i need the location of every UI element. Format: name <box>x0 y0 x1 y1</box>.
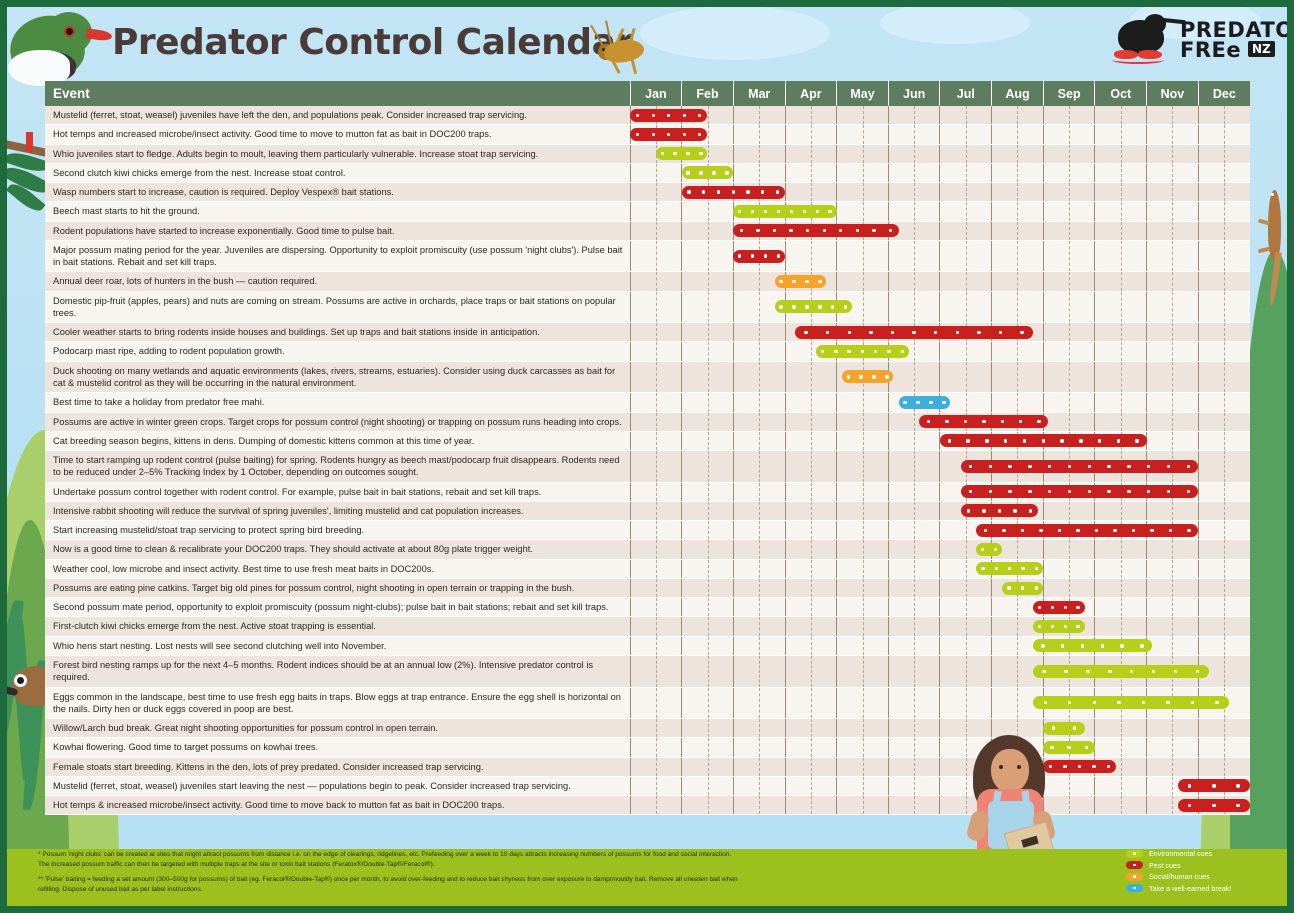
table-row: Hot temps & increased microbe/insect act… <box>45 796 1250 815</box>
month-cell-nov <box>1147 598 1199 617</box>
month-cell-may <box>837 393 889 412</box>
gantt-bar[interactable] <box>1033 601 1085 614</box>
month-cell-apr <box>785 540 837 559</box>
table-row: Annual deer roar, lots of hunters in the… <box>45 272 1250 291</box>
month-cell-dec <box>1198 144 1250 163</box>
month-cell-mar <box>733 521 785 540</box>
month-cell-jul <box>940 163 992 182</box>
month-cell-jun <box>888 361 940 393</box>
month-cell-sep <box>1043 125 1095 144</box>
month-cell-feb <box>682 412 734 431</box>
month-cell-apr <box>785 361 837 393</box>
column-header-sep: Sep <box>1043 81 1095 106</box>
month-cell-feb <box>682 559 734 578</box>
month-cell-aug <box>992 163 1044 182</box>
bar-dot-icon <box>948 439 951 442</box>
bar-dot-icon <box>636 133 639 136</box>
bar-dot-icon <box>805 305 808 308</box>
event-description: Podocarp mast ripe, adding to rodent pop… <box>45 342 630 361</box>
bar-dot-icon <box>1029 509 1032 512</box>
legend-item: Social/human cues <box>1126 872 1286 881</box>
bar-dot-icon <box>1140 644 1143 647</box>
month-cell-jan <box>630 521 682 540</box>
bar-dot-icon <box>717 190 720 193</box>
month-cell-apr <box>785 738 837 757</box>
bar-dot-icon <box>1007 586 1010 589</box>
month-cell-sep <box>1043 342 1095 361</box>
month-cell-may <box>837 183 889 202</box>
month-cell-jun <box>888 272 940 291</box>
month-cell-oct <box>1095 361 1147 393</box>
month-cell-aug <box>992 361 1044 393</box>
month-cell-jun <box>888 106 940 125</box>
bar-dot-icon <box>1068 490 1071 493</box>
footnote-1: * Possum 'night clubs' can be created at… <box>38 850 738 870</box>
month-cell-dec <box>1198 540 1250 559</box>
month-cell-dec <box>1198 221 1250 240</box>
month-cell-feb <box>682 578 734 597</box>
month-cell-jun <box>888 482 940 501</box>
month-cell-oct <box>1095 412 1147 431</box>
table-row: Mustelid (ferret, stoat, weasel) juvenil… <box>45 776 1250 795</box>
month-cell-may <box>837 598 889 617</box>
bar-dot-icon <box>1058 529 1061 532</box>
month-cell-dec <box>1198 559 1250 578</box>
bar-dot-icon <box>1117 701 1120 704</box>
month-cell-may <box>837 501 889 520</box>
gantt-bar[interactable] <box>1033 665 1209 678</box>
bar-dot-icon <box>874 350 877 353</box>
gantt-bar[interactable] <box>775 275 827 288</box>
bar-dot-icon <box>1044 701 1047 704</box>
event-description: Second possum mate period, opportunity t… <box>45 598 630 617</box>
month-cell-mar <box>733 655 785 687</box>
month-cell-jan <box>630 482 682 501</box>
month-cell-may <box>837 272 889 291</box>
month-cell-jun <box>888 501 940 520</box>
bar-dot-icon <box>1212 804 1215 807</box>
month-cell-jul <box>940 291 992 323</box>
column-header-may: May <box>837 81 889 106</box>
bar-dot-icon <box>1035 567 1038 570</box>
month-cell-mar <box>733 719 785 738</box>
event-description: Start increasing mustelid/stoat trap ser… <box>45 521 630 540</box>
gantt-bar[interactable] <box>1178 799 1250 812</box>
event-description: Mustelid (ferret, stoat, weasel) juvenil… <box>45 776 630 795</box>
bar-dot-icon <box>805 280 808 283</box>
gantt-bar[interactable] <box>961 504 1038 517</box>
bar-dot-icon <box>777 254 780 257</box>
month-cell-feb <box>682 636 734 655</box>
bar-dot-icon <box>1068 701 1071 704</box>
month-cell-mar <box>733 451 785 483</box>
month-cell-apr <box>785 776 837 795</box>
month-cell-apr <box>785 431 837 450</box>
month-cell-may <box>837 482 889 501</box>
month-cell-jan <box>630 796 682 815</box>
month-cell-aug <box>992 221 1044 240</box>
month-cell-jun <box>888 655 940 687</box>
month-cell-apr <box>785 521 837 540</box>
month-cell-aug <box>992 106 1044 125</box>
table-row: Rodent populations have started to incre… <box>45 221 1250 240</box>
month-cell-dec <box>1198 617 1250 636</box>
bar-dot-icon <box>885 375 888 378</box>
bar-dot-icon <box>826 331 829 334</box>
bar-dot-icon <box>1117 439 1120 442</box>
bar-dot-icon <box>1008 490 1011 493</box>
weta-icon <box>588 22 652 74</box>
month-cell-may <box>837 738 889 757</box>
gantt-bar[interactable] <box>976 524 1198 537</box>
bar-dot-icon <box>859 375 862 378</box>
event-description: Possums are active in winter green crops… <box>45 412 630 431</box>
gantt-bar[interactable] <box>961 460 1199 473</box>
event-description: Best time to take a holiday from predato… <box>45 393 630 412</box>
bar-dot-icon <box>1152 670 1155 673</box>
month-cell-may <box>837 412 889 431</box>
gantt-bar[interactable] <box>1033 696 1229 709</box>
bar-dot-icon <box>1188 784 1191 787</box>
month-cell-jan <box>630 240 682 272</box>
month-cell-may <box>837 719 889 738</box>
bar-dot-icon <box>1086 670 1089 673</box>
month-cell-oct <box>1095 291 1147 323</box>
event-description: Duck shooting on many wetlands and aquat… <box>45 361 630 393</box>
month-cell-sep <box>1043 144 1095 163</box>
gantt-bar[interactable] <box>1178 779 1250 792</box>
legend-label: Pest cues <box>1149 861 1181 870</box>
table-row: Possums are active in winter green crops… <box>45 412 1250 431</box>
month-cell-sep <box>1043 361 1095 393</box>
gantt-bar[interactable] <box>919 415 1048 428</box>
gantt-bar[interactable] <box>842 370 894 383</box>
bar-dot-icon <box>652 133 655 136</box>
bar-dot-icon <box>982 509 985 512</box>
month-cell-oct <box>1095 719 1147 738</box>
month-cell-jan <box>630 598 682 617</box>
month-cell-may <box>837 578 889 597</box>
event-description: Beech mast starts to hit the ground. <box>45 202 630 221</box>
gantt-bar[interactable] <box>682 186 785 199</box>
month-cell-jan <box>630 719 682 738</box>
column-header-apr: Apr <box>785 81 837 106</box>
table-row: Duck shooting on many wetlands and aquat… <box>45 361 1250 393</box>
gantt-bar[interactable] <box>976 562 1043 575</box>
month-cell-oct <box>1095 738 1147 757</box>
month-cell-mar <box>733 323 785 342</box>
bar-dot-icon <box>929 401 933 405</box>
month-cell-feb <box>682 361 734 393</box>
table-row: Intensive rabbit shooting will reduce th… <box>45 501 1250 520</box>
bar-dot-icon <box>1127 465 1130 468</box>
month-cell-mar <box>733 144 785 163</box>
month-cell-feb <box>682 323 734 342</box>
bar-dot-icon <box>1085 746 1088 749</box>
month-cell-feb <box>682 598 734 617</box>
event-description: Domestic pip-fruit (apples, pears) and n… <box>45 291 630 323</box>
table-header-row: Event Jan Feb Mar Apr May Jun Jul Aug Se… <box>45 81 1250 106</box>
month-cell-mar <box>733 598 785 617</box>
bar-dot-icon <box>848 331 851 334</box>
month-cell-may <box>837 559 889 578</box>
event-description: Kowhai flowering. Good time to target po… <box>45 738 630 757</box>
month-cell-jan <box>630 655 682 687</box>
bar-dot-icon <box>792 305 795 308</box>
bar-dot-icon <box>1107 765 1110 768</box>
gantt-bar[interactable] <box>733 205 836 218</box>
month-cell-may <box>837 687 889 719</box>
month-cell-apr <box>785 598 837 617</box>
month-cell-jun <box>888 559 940 578</box>
month-cell-feb <box>682 291 734 323</box>
month-cell-oct <box>1095 559 1147 578</box>
month-cell-apr <box>785 501 837 520</box>
month-cell-nov <box>1147 738 1199 757</box>
bar-dot-icon <box>1101 644 1104 647</box>
table-row: Best time to take a holiday from predato… <box>45 393 1250 412</box>
legend-swatch-icon <box>1126 861 1143 869</box>
month-cell-dec <box>1198 578 1250 597</box>
month-cell-nov <box>1147 342 1199 361</box>
month-cell-may <box>837 757 889 776</box>
gantt-bar[interactable] <box>775 300 852 313</box>
table-row: Second clutch kiwi chicks emerge from th… <box>45 163 1250 182</box>
bar-dot-icon <box>806 229 809 232</box>
column-header-aug: Aug <box>992 81 1044 106</box>
month-cell-may <box>837 655 889 687</box>
month-cell-jun <box>888 183 940 202</box>
event-description: Whio hens start nesting. Lost nests will… <box>45 636 630 655</box>
bar-dot-icon <box>844 305 847 308</box>
bar-dot-icon <box>661 152 664 155</box>
gantt-bar[interactable] <box>816 345 909 358</box>
legend: Environmental cuesPest cuesSocial/human … <box>1126 849 1286 895</box>
month-cell-jan <box>630 361 682 393</box>
bar-dot-icon <box>1212 784 1215 787</box>
legend-item: Take a well-earned break! <box>1126 884 1286 893</box>
month-cell-jul <box>940 272 992 291</box>
month-cell-jun <box>888 738 940 757</box>
bar-dot-icon <box>1038 606 1041 609</box>
bar-dot-icon <box>1196 670 1199 673</box>
bar-dot-icon <box>1052 726 1055 729</box>
bar-dot-icon <box>1187 465 1190 468</box>
gantt-bar[interactable] <box>976 543 1002 556</box>
bar-dot-icon <box>673 152 676 155</box>
bar-dot-icon <box>1041 644 1044 647</box>
month-cell-jul <box>940 578 992 597</box>
event-description: Weather cool, low microbe and insect act… <box>45 559 630 578</box>
table-row: Beech mast starts to hit the ground. <box>45 202 1250 221</box>
month-cell-jul <box>940 183 992 202</box>
bar-dot-icon <box>777 210 780 213</box>
bar-dot-icon <box>804 331 807 334</box>
gantt-bar[interactable] <box>1033 620 1085 633</box>
bar-dot-icon <box>1135 439 1138 442</box>
bar-dot-icon <box>789 229 792 232</box>
month-cell-jul <box>940 202 992 221</box>
bar-dot-icon <box>773 229 776 232</box>
bar-dot-icon <box>1042 670 1045 673</box>
bar-dot-icon <box>901 350 904 353</box>
bar-dot-icon <box>966 439 969 442</box>
bar-dot-icon <box>1004 439 1007 442</box>
bar-dot-icon <box>872 229 875 232</box>
month-cell-sep <box>1043 272 1095 291</box>
event-description: Intensive rabbit shooting will reduce th… <box>45 501 630 520</box>
month-cell-jul <box>940 598 992 617</box>
gantt-bar[interactable] <box>795 326 1033 339</box>
bar-dot-icon <box>1023 439 1026 442</box>
gantt-bar[interactable] <box>899 396 951 409</box>
month-cell-may <box>837 144 889 163</box>
month-cell-nov <box>1147 719 1199 738</box>
month-cell-jan <box>630 163 682 182</box>
table-row: Possums are eating pine catkins. Target … <box>45 578 1250 597</box>
month-cell-apr <box>785 482 837 501</box>
event-description: Willow/Larch bud break. Great night shoo… <box>45 719 630 738</box>
bar-dot-icon <box>1093 701 1096 704</box>
month-cell-feb <box>682 738 734 757</box>
month-cell-sep <box>1043 412 1095 431</box>
month-cell-jan <box>630 776 682 795</box>
month-cell-feb <box>682 221 734 240</box>
bar-dot-icon <box>977 331 980 334</box>
month-cell-nov <box>1147 617 1199 636</box>
event-description: Hot temps and increased microbe/insect a… <box>45 125 630 144</box>
month-cell-jul <box>940 617 992 636</box>
gantt-bar[interactable] <box>940 434 1147 447</box>
month-cell-jan <box>630 412 682 431</box>
month-cell-feb <box>682 796 734 815</box>
gantt-bar[interactable] <box>1033 639 1152 652</box>
bar-dot-icon <box>1187 529 1190 532</box>
gantt-bar[interactable] <box>630 109 707 122</box>
column-header-event: Event <box>45 81 630 106</box>
month-cell-jan <box>630 617 682 636</box>
bar-dot-icon <box>1092 765 1095 768</box>
month-cell-apr <box>785 757 837 776</box>
month-cell-aug <box>992 183 1044 202</box>
person-illustration <box>955 735 1065 847</box>
month-cell-sep <box>1043 540 1095 559</box>
bar-dot-icon <box>934 331 937 334</box>
month-cell-jan <box>630 501 682 520</box>
month-cell-dec <box>1198 291 1250 323</box>
month-cell-mar <box>733 738 785 757</box>
month-cell-dec <box>1198 202 1250 221</box>
bar-dot-icon <box>725 171 728 174</box>
month-cell-dec <box>1198 521 1250 540</box>
month-cell-mar <box>733 617 785 636</box>
bar-dot-icon <box>821 350 824 353</box>
gantt-bar[interactable] <box>656 147 708 160</box>
gantt-bar[interactable] <box>961 485 1199 498</box>
month-cell-nov <box>1147 431 1199 450</box>
footnotes-block: * Possum 'night clubs' can be created at… <box>38 850 738 900</box>
month-cell-oct <box>1095 106 1147 125</box>
bar-dot-icon <box>994 548 997 551</box>
gantt-bar[interactable] <box>733 224 898 237</box>
bar-dot-icon <box>1120 644 1123 647</box>
gantt-bar[interactable] <box>1002 582 1043 595</box>
page-title: Predator Control Calendar <box>112 22 633 63</box>
column-header-nov: Nov <box>1147 81 1199 106</box>
month-cell-aug <box>992 393 1044 412</box>
bar-dot-icon <box>1127 490 1130 493</box>
month-cell-nov <box>1147 221 1199 240</box>
event-description: Rodent populations have started to incre… <box>45 221 630 240</box>
bar-dot-icon <box>1060 439 1063 442</box>
bar-dot-icon <box>779 280 782 283</box>
month-cell-feb <box>682 617 734 636</box>
bar-dot-icon <box>1187 490 1190 493</box>
month-cell-dec <box>1198 272 1250 291</box>
month-cell-nov <box>1147 291 1199 323</box>
legend-item: Environmental cues <box>1126 849 1286 858</box>
month-cell-jul <box>940 240 992 272</box>
gantt-bar[interactable] <box>733 250 785 263</box>
event-description: Eggs common in the landscape, best time … <box>45 687 630 719</box>
month-cell-may <box>837 125 889 144</box>
month-cell-aug <box>992 202 1044 221</box>
bar-dot-icon <box>667 114 670 117</box>
gantt-bar[interactable] <box>1043 722 1084 735</box>
month-cell-jul <box>940 655 992 687</box>
bar-dot-icon <box>1078 765 1081 768</box>
legend-label: Environmental cues <box>1149 849 1212 858</box>
table-row: Cooler weather starts to bring rodents i… <box>45 323 1250 342</box>
month-cell-feb <box>682 393 734 412</box>
month-cell-feb <box>682 240 734 272</box>
bar-dot-icon <box>847 375 850 378</box>
month-cell-sep <box>1043 393 1095 412</box>
bar-dot-icon <box>764 254 767 257</box>
month-cell-jan <box>630 738 682 757</box>
gantt-bar[interactable] <box>630 128 707 141</box>
bar-dot-icon <box>761 190 764 193</box>
table-row: Wasp numbers start to increase, caution … <box>45 183 1250 202</box>
bar-dot-icon <box>1236 784 1239 787</box>
bar-dot-icon <box>903 401 907 405</box>
month-cell-may <box>837 431 889 450</box>
bar-dot-icon <box>699 152 702 155</box>
month-cell-oct <box>1095 323 1147 342</box>
gantt-bar[interactable] <box>682 166 734 179</box>
bar-dot-icon <box>1191 701 1194 704</box>
legend-label: Take a well-earned break! <box>1149 884 1231 893</box>
bar-dot-icon <box>687 190 690 193</box>
bar-dot-icon <box>1174 670 1177 673</box>
month-cell-apr <box>785 144 837 163</box>
bar-dot-icon <box>1020 331 1023 334</box>
bar-dot-icon <box>1167 465 1170 468</box>
month-cell-sep <box>1043 106 1095 125</box>
month-cell-dec <box>1198 412 1250 431</box>
bar-dot-icon <box>1095 529 1098 532</box>
month-cell-may <box>837 163 889 182</box>
month-cell-jun <box>888 125 940 144</box>
month-cell-mar <box>733 361 785 393</box>
month-cell-dec <box>1198 636 1250 655</box>
month-cell-feb <box>682 342 734 361</box>
bar-dot-icon <box>995 567 998 570</box>
bar-dot-icon <box>945 420 948 423</box>
month-cell-dec <box>1198 125 1250 144</box>
month-cell-apr <box>785 655 837 687</box>
month-cell-jun <box>888 451 940 483</box>
